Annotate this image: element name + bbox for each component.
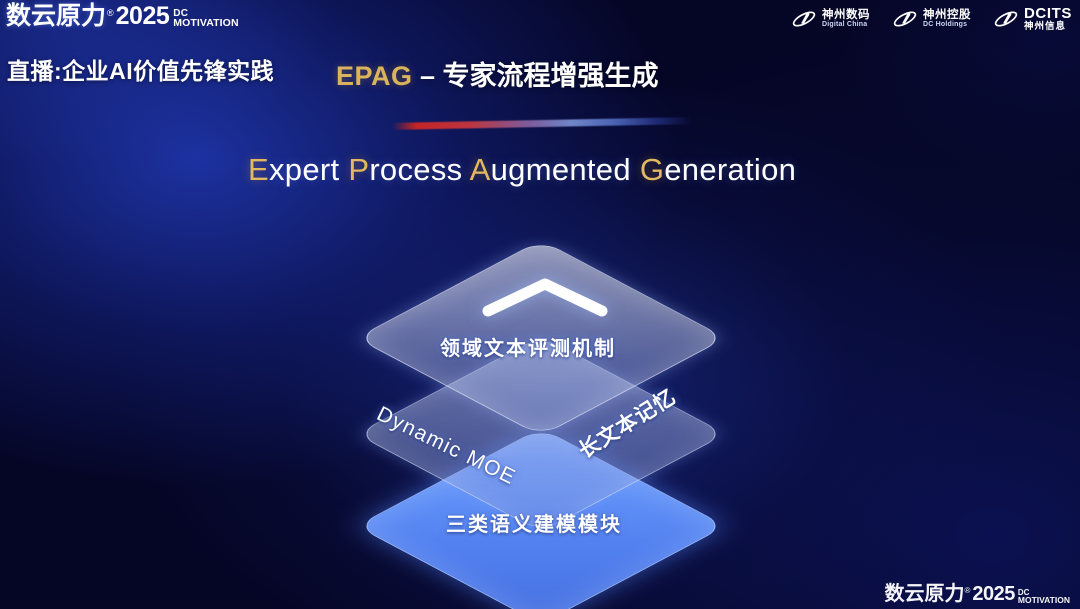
- footer-brand-logo: 数云原力 ® 2025 DC MOTIVATION: [884, 584, 1070, 604]
- partner-logo-dcits: DCITS 神州信息: [993, 6, 1072, 32]
- brand-motivation-label: MOTIVATION: [173, 18, 238, 29]
- footer-registered-mark: ®: [964, 586, 970, 595]
- swoosh-icon: [993, 8, 1019, 30]
- brand-name-cn: 数云原力: [6, 4, 106, 29]
- partner-label: 神州数码 Digital China: [822, 9, 870, 28]
- subtitle-word-generation: eneration: [664, 152, 796, 187]
- partner-name-cn: 神州数码: [822, 9, 870, 21]
- footer-brand-year: 2025: [972, 584, 1015, 604]
- footer-brand-name-cn: 数云原力: [884, 584, 964, 604]
- title-chinese: – 专家流程增强生成: [413, 61, 659, 91]
- subtitle-initial-e: E: [248, 152, 269, 187]
- partner-name-en: Digital China: [822, 21, 870, 28]
- partner-name-en: DCITS: [1024, 6, 1072, 22]
- brand-year: 2025: [116, 4, 170, 29]
- partner-name-cn: 神州控股: [923, 9, 971, 21]
- subtitle-initial-g: G: [640, 152, 664, 187]
- partner-name-en: DC Holdings: [923, 21, 971, 28]
- slide-subtitle: Expert Process Augmented Generation: [248, 152, 796, 188]
- partner-label: DCITS 神州信息: [1024, 6, 1072, 32]
- gradient-divider: [392, 117, 692, 130]
- partner-name-cn: 神州信息: [1024, 22, 1072, 32]
- partner-label: 神州控股 DC Holdings: [923, 9, 971, 28]
- layer-label-top: 领域文本评测机制: [440, 332, 616, 361]
- title-acronym: EPAG: [336, 61, 413, 91]
- footer-brand-motivation-label: MOTIVATION: [1018, 596, 1070, 605]
- slide-canvas: 数云原力 ® 2025 DC MOTIVATION 直播:企业AI价值先锋实践 …: [0, 0, 1080, 609]
- layered-architecture-diagram: 领域文本评测机制 Dynamic MOE 长文本记忆 三类语义建模模块: [250, 215, 830, 585]
- brand-dc-motivation: DC MOTIVATION: [173, 9, 238, 29]
- partner-logo-digital-china: 神州数码 Digital China: [791, 8, 870, 30]
- partner-logo-group: 神州数码 Digital China 神州控股 DC Holdings: [791, 6, 1072, 32]
- swoosh-icon: [892, 8, 918, 30]
- registered-mark: ®: [107, 8, 114, 18]
- live-session-label: 直播:企业AI价值先锋实践: [7, 52, 274, 86]
- slide-title: EPAG – 专家流程增强生成: [336, 54, 659, 93]
- subtitle-word-process: rocess: [369, 152, 469, 187]
- footer-brand-dc-motivation: DC MOTIVATION: [1018, 589, 1070, 605]
- subtitle-word-expert: xpert: [269, 152, 348, 187]
- partner-logo-dc-holdings: 神州控股 DC Holdings: [892, 8, 971, 30]
- subtitle-initial-a: A: [470, 152, 491, 187]
- chevron-up-icon: [482, 277, 608, 317]
- header-brand-logo: 数云原力 ® 2025 DC MOTIVATION: [6, 4, 239, 29]
- layer-label-bottom: 三类语义建模模块: [446, 508, 622, 537]
- subtitle-word-augmented: ugmented: [491, 152, 640, 187]
- swoosh-icon: [791, 8, 817, 30]
- subtitle-initial-p: P: [348, 152, 369, 187]
